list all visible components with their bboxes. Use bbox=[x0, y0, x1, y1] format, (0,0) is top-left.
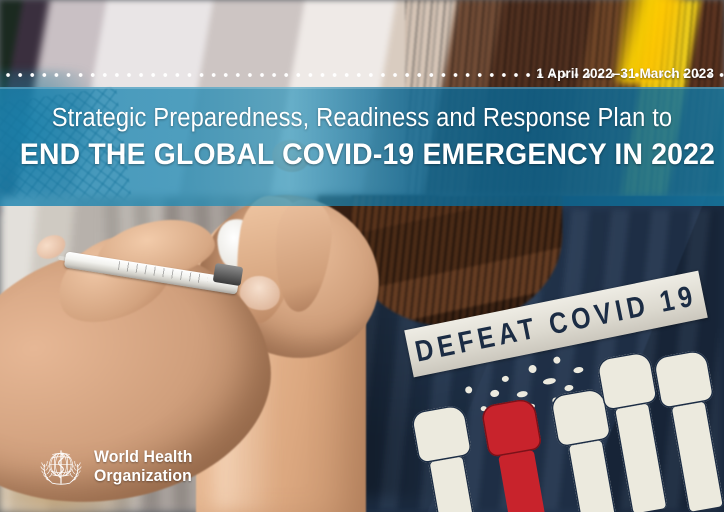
who-logo-line1: World Health bbox=[94, 448, 193, 467]
date-range-label: 1 April 2022–31 March 2023 bbox=[536, 66, 714, 81]
splash-particle bbox=[528, 364, 537, 373]
page-subtitle: Strategic Preparedness, Readiness and Re… bbox=[25, 104, 698, 133]
splash-particle bbox=[564, 384, 574, 391]
rod-of-asclepius-icon bbox=[59, 450, 65, 483]
fist-forearm bbox=[614, 403, 668, 512]
splash-particle bbox=[501, 375, 509, 382]
who-logo: World Health Organization bbox=[38, 444, 197, 490]
splash-particle bbox=[543, 377, 557, 385]
who-logo-text: World Health Organization bbox=[94, 448, 197, 486]
fist-2-red bbox=[480, 397, 561, 512]
fist-knuckles bbox=[652, 349, 714, 410]
fist-knuckles bbox=[596, 351, 658, 412]
splash-particle bbox=[490, 389, 500, 397]
splash-particle bbox=[516, 390, 528, 398]
fist-knuckles bbox=[410, 404, 472, 465]
fist-forearm bbox=[670, 401, 724, 512]
who-emblem-icon bbox=[38, 444, 84, 490]
title-banner-top-edge bbox=[0, 87, 724, 89]
title-block: Strategic Preparedness, Readiness and Re… bbox=[0, 104, 724, 172]
splash-particle bbox=[553, 356, 561, 364]
fist-forearm bbox=[498, 450, 552, 512]
who-poster-cover: DEFEAT COVID 19 bbox=[0, 0, 724, 512]
fist-forearm bbox=[428, 456, 482, 512]
who-logo-line2: Organization bbox=[94, 467, 193, 486]
fist-knuckles bbox=[480, 397, 542, 458]
splash-particle bbox=[573, 366, 584, 374]
fist-1 bbox=[410, 404, 491, 512]
page-title: END THE GLOBAL COVID-19 EMERGENCY IN 202… bbox=[20, 138, 704, 172]
splash-particle bbox=[465, 386, 473, 394]
